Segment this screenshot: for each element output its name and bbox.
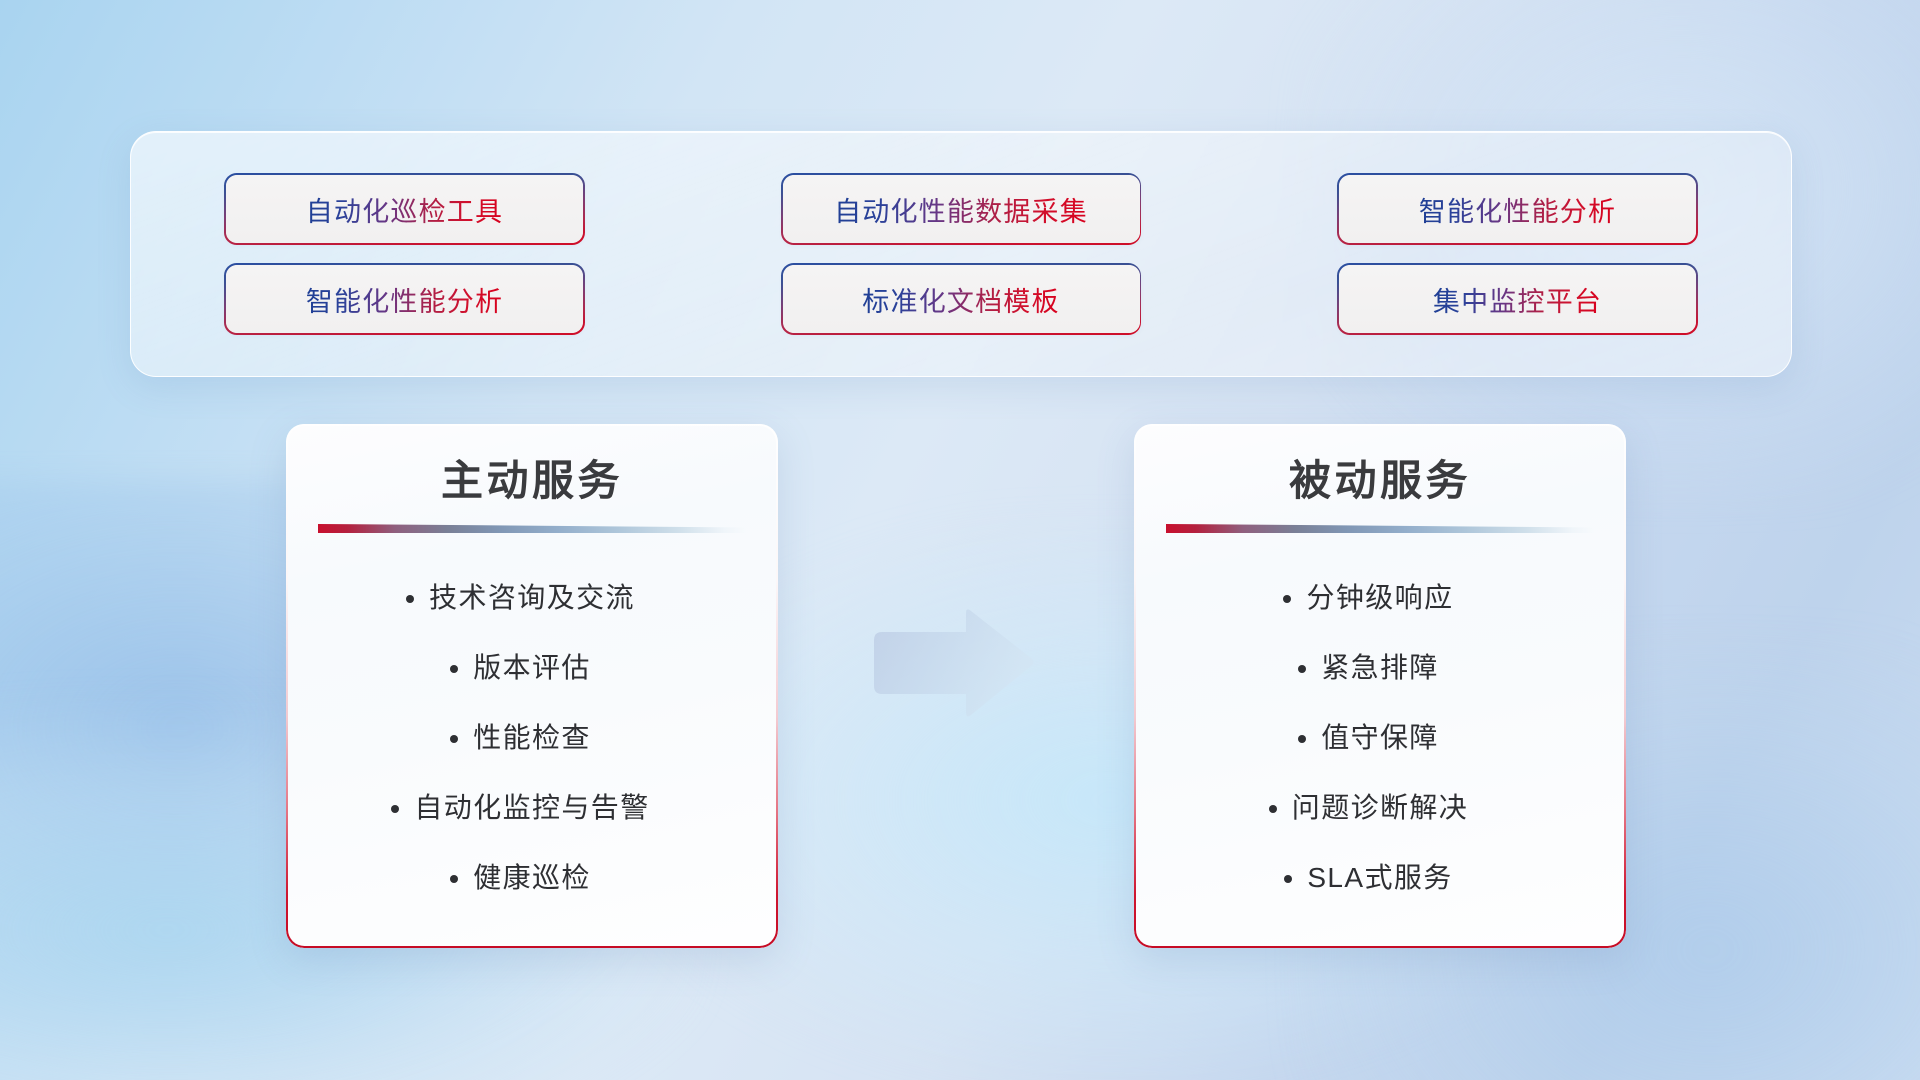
card-body: 被动服务 分钟级响应 紧急排障 值守保障 问题诊断解决 SLA式服务 bbox=[1136, 426, 1625, 947]
service-card-reactive: 被动服务 分钟级响应 紧急排障 值守保障 问题诊断解决 SLA式服务 bbox=[1134, 424, 1626, 948]
flow-arrow bbox=[868, 608, 1036, 720]
list-item: 问题诊断解决 bbox=[1292, 773, 1468, 843]
capability-pill-label: 自动化巡检工具 bbox=[306, 190, 503, 229]
list-item: 技术咨询及交流 bbox=[429, 563, 635, 633]
list-item: 分钟级响应 bbox=[1306, 563, 1453, 633]
capability-pill-1-0[interactable]: 智能化性能分析 bbox=[226, 265, 583, 333]
card-title: 主动服务 bbox=[441, 456, 623, 506]
capability-pill-surface: 标准化文档模板 bbox=[783, 265, 1140, 333]
card-title: 被动服务 bbox=[1289, 456, 1471, 506]
card-item-list: 分钟级响应 紧急排障 值守保障 问题诊断解决 SLA式服务 bbox=[1136, 563, 1625, 913]
capability-row-2: 智能化性能分析 标准化文档模板 集中监控平台 bbox=[226, 265, 1696, 333]
capability-pill-0-2[interactable]: 智能化性能分析 bbox=[1339, 175, 1696, 243]
list-item: SLA式服务 bbox=[1307, 843, 1452, 913]
card-item-list: 技术咨询及交流 版本评估 性能检查 自动化监控与告警 健康巡检 bbox=[288, 563, 777, 913]
list-item: 紧急排障 bbox=[1321, 633, 1439, 703]
capability-pill-surface: 智能化性能分析 bbox=[226, 265, 583, 333]
card-gradient-frame: 被动服务 分钟级响应 紧急排障 值守保障 问题诊断解决 SLA式服务 bbox=[1134, 424, 1626, 948]
arrow-right-icon bbox=[868, 608, 1036, 720]
capability-pill-label: 自动化性能数据采集 bbox=[834, 190, 1088, 229]
capability-pill-surface: 集中监控平台 bbox=[1339, 265, 1696, 333]
list-item: 版本评估 bbox=[473, 633, 591, 703]
capability-row-1: 自动化巡检工具 自动化性能数据采集 智能化性能分析 bbox=[226, 175, 1696, 243]
capability-panel: 自动化巡检工具 自动化性能数据采集 智能化性能分析 智能化性能分析 bbox=[130, 131, 1792, 377]
capability-pill-surface: 智能化性能分析 bbox=[1339, 175, 1696, 243]
capability-pill-label: 智能化性能分析 bbox=[306, 280, 503, 319]
diagram-stage: 自动化巡检工具 自动化性能数据采集 智能化性能分析 智能化性能分析 bbox=[0, 0, 1920, 1080]
capability-pill-0-1[interactable]: 自动化性能数据采集 bbox=[783, 175, 1140, 243]
card-gradient-frame: 主动服务 技术咨询及交流 版本评估 性能检查 自动化监控与告警 健康巡检 bbox=[286, 424, 778, 948]
capability-pill-1-2[interactable]: 集中监控平台 bbox=[1339, 265, 1696, 333]
list-item: 自动化监控与告警 bbox=[414, 773, 649, 843]
capability-pill-surface: 自动化性能数据采集 bbox=[783, 175, 1140, 243]
capability-pill-label: 智能化性能分析 bbox=[1419, 190, 1616, 229]
divider-bar bbox=[318, 524, 746, 533]
list-item: 健康巡检 bbox=[473, 843, 591, 913]
card-body: 主动服务 技术咨询及交流 版本评估 性能检查 自动化监控与告警 健康巡检 bbox=[288, 426, 777, 947]
capability-pill-surface: 自动化巡检工具 bbox=[226, 175, 583, 243]
capability-pill-label: 集中监控平台 bbox=[1433, 280, 1602, 319]
card-title-divider bbox=[1166, 524, 1594, 533]
list-item: 性能检查 bbox=[473, 703, 591, 773]
card-title-divider bbox=[318, 524, 746, 533]
list-item: 值守保障 bbox=[1321, 703, 1439, 773]
divider-bar bbox=[1166, 524, 1594, 533]
capability-pill-0-0[interactable]: 自动化巡检工具 bbox=[226, 175, 583, 243]
service-card-proactive: 主动服务 技术咨询及交流 版本评估 性能检查 自动化监控与告警 健康巡检 bbox=[286, 424, 778, 948]
capability-pill-1-1[interactable]: 标准化文档模板 bbox=[783, 265, 1140, 333]
capability-pill-label: 标准化文档模板 bbox=[862, 280, 1059, 319]
